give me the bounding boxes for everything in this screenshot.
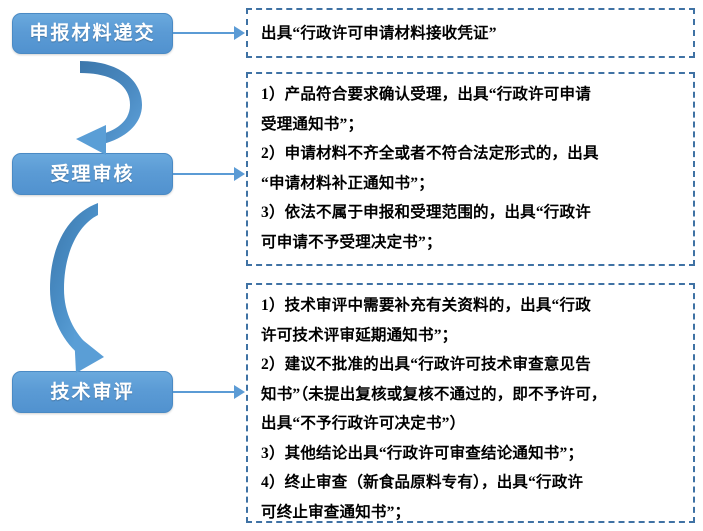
- note-line: 1）技术审评中需要补充有关资料的，出具“行政: [261, 291, 683, 321]
- note-line: 3）依法不属于申报和受理范围的，出具“行政许: [261, 198, 683, 228]
- note-box-accept-review: 1）产品符合要求确认受理，出具“行政许可申请 受理通知书”； 2）申请材料不齐全…: [246, 72, 695, 266]
- note-line: 出具“行政许可申请材料接收凭证”: [261, 16, 683, 52]
- flowchart-canvas: 申报材料递交 受理审核 技术审评: [0, 0, 703, 531]
- arrow-shaft: [173, 173, 235, 175]
- note-line: 许可技术评审延期通知书”；: [261, 321, 683, 351]
- arrow-accept-to-technical-icon: [42, 197, 154, 375]
- note-line: 知书”（未提出复核或复核不通过的，即不予许可，: [261, 380, 683, 410]
- arrow-accept-to-note-icon: [173, 167, 245, 181]
- note-box-submit: 出具“行政许可申请材料接收凭证”: [246, 8, 695, 58]
- arrow-shaft: [173, 391, 235, 393]
- arrow-head: [234, 26, 245, 40]
- note-line: 2）建议不批准的出具“行政许可技术审查意见告: [261, 350, 683, 380]
- stage-label-accept-review: 受理审核: [50, 165, 134, 184]
- stage-box-technical-review[interactable]: 技术审评: [12, 371, 173, 413]
- note-line: 1）产品符合要求确认受理，出具“行政许可申请: [261, 80, 683, 110]
- stage-label-submit: 申报材料递交: [29, 24, 155, 43]
- note-box-technical-review: 1）技术审评中需要补充有关资料的，出具“行政 许可技术评审延期通知书”； 2）建…: [246, 283, 695, 523]
- note-line: 4）终止审查（新食品原料专有），出具“行政许: [261, 468, 683, 498]
- stage-box-submit[interactable]: 申报材料递交: [12, 13, 173, 54]
- stage-label-technical-review: 技术审评: [50, 383, 134, 402]
- stage-box-accept-review[interactable]: 受理审核: [12, 153, 173, 195]
- note-line: 受理通知书”；: [261, 110, 683, 140]
- arrow-shaft: [173, 32, 235, 34]
- note-line: 3）其他结论出具“行政许可审查结论通知书”；: [261, 439, 683, 469]
- note-line: 2）申请材料不齐全或者不符合法定形式的，出具: [261, 139, 683, 169]
- arrow-head: [234, 167, 245, 181]
- arrow-submit-to-note-icon: [173, 26, 245, 40]
- note-line: 可终止审查通知书”；: [261, 498, 683, 528]
- arrow-submit-to-accept-icon: [62, 55, 158, 155]
- note-line: “申请材料补正通知书”；: [261, 169, 683, 199]
- note-line: 出具“不予行政许可决定书”）: [261, 409, 683, 439]
- note-line: 可申请不予受理决定书”；: [261, 228, 683, 258]
- arrow-technical-to-note-icon: [173, 385, 245, 399]
- arrow-head: [234, 385, 245, 399]
